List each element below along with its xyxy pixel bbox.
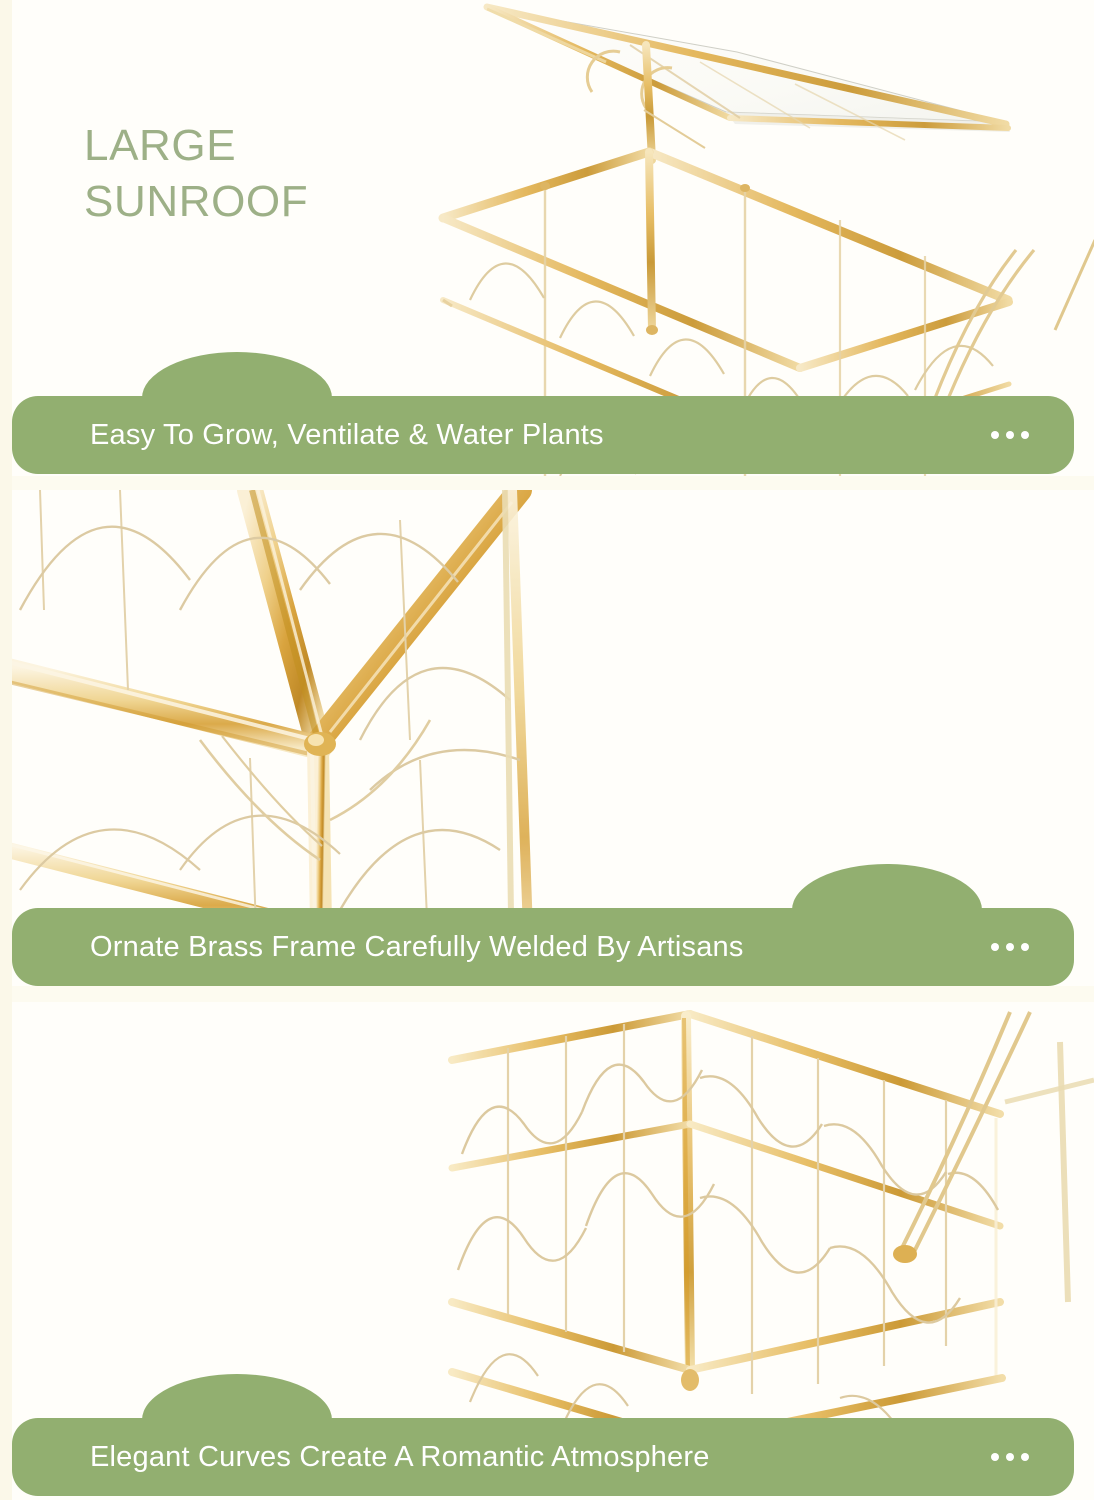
infographic-page: LARGE SUNROOF Easy To Grow, Ventilate & … — [0, 0, 1094, 1500]
caption-banner-handmade-frame[interactable]: Ornate Brass Frame Carefully Welded By A… — [12, 908, 1074, 986]
ellipsis-icon[interactable] — [991, 1418, 1029, 1496]
caption-text: Elegant Curves Create A Romantic Atmosph… — [90, 1418, 710, 1496]
ellipsis-icon[interactable] — [991, 908, 1029, 986]
panel-gap-2 — [0, 986, 1094, 1002]
caption-banner-circular-line-design[interactable]: Elegant Curves Create A Romantic Atmosph… — [12, 1418, 1074, 1496]
panel-gap-1 — [0, 476, 1094, 490]
caption-text: Ornate Brass Frame Carefully Welded By A… — [90, 908, 744, 986]
caption-banner-large-sunroof[interactable]: Easy To Grow, Ventilate & Water Plants — [12, 396, 1074, 474]
left-edge-strip — [0, 0, 12, 1500]
section-heading-large-sunroof: LARGE SUNROOF — [84, 118, 308, 231]
ellipsis-icon[interactable] — [991, 396, 1029, 474]
caption-text: Easy To Grow, Ventilate & Water Plants — [90, 396, 604, 474]
